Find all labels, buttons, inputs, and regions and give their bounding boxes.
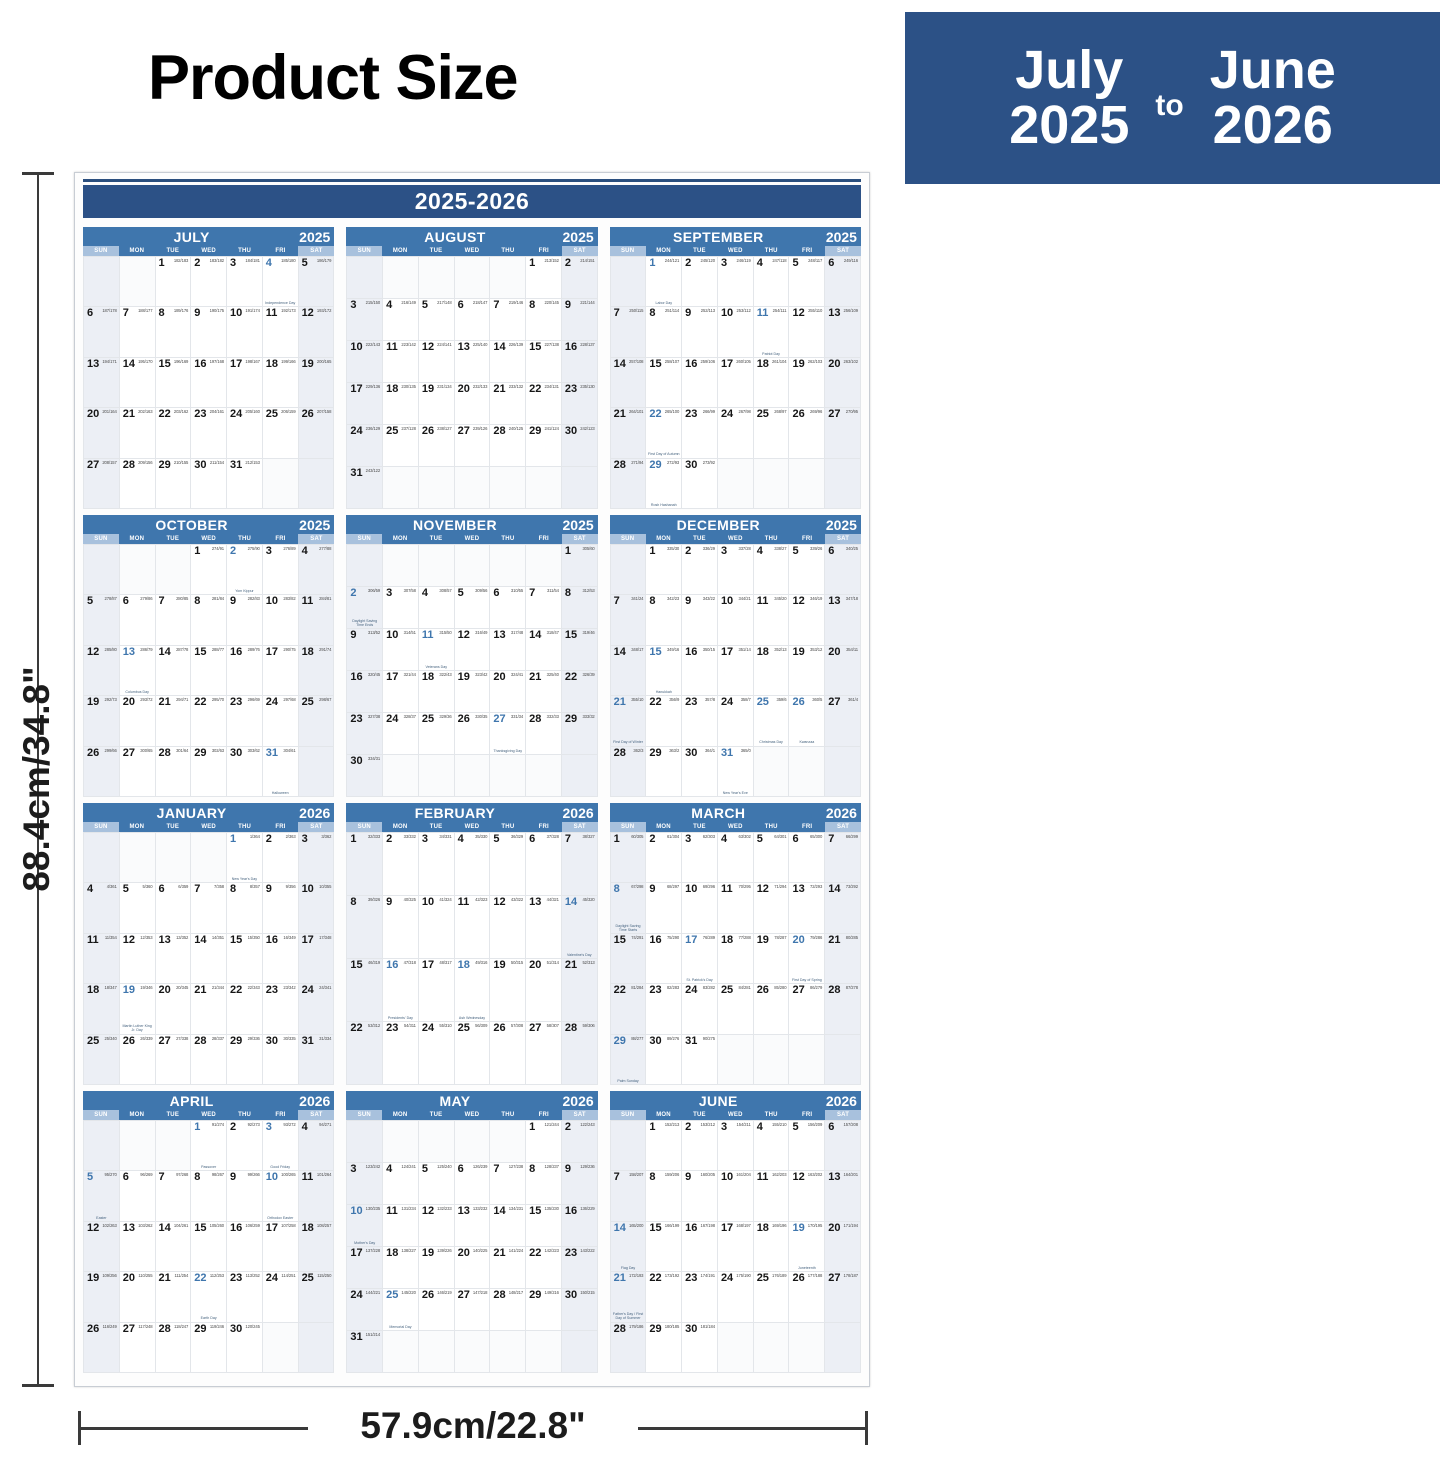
day-of-year-counter: 252/113: [701, 309, 715, 313]
day-number: 19: [87, 1273, 99, 1284]
day-number: 1: [194, 546, 200, 557]
day-of-year-counter: 8/357: [250, 885, 260, 889]
day-cell: 10100/265Orthodox Easter: [263, 1171, 299, 1221]
day-of-year-counter: 43/322: [511, 898, 523, 902]
day-number: 26: [87, 748, 99, 759]
day-of-year-counter: 29/336: [248, 1037, 260, 1041]
day-of-year-counter: 129/236: [580, 1165, 594, 1169]
day-number: 12: [458, 630, 470, 641]
day-cell: 23357/8: [682, 696, 718, 746]
day-number: 24: [350, 1290, 362, 1301]
holiday-label: Easter: [85, 1216, 118, 1220]
day-cell: 2306/59Daylight Saving Time Ends: [347, 587, 383, 629]
day-cell: 8281/84: [191, 595, 227, 645]
day-number: 31: [302, 1036, 314, 1047]
day-number: 29: [649, 748, 661, 759]
day-number: 31: [350, 1332, 362, 1343]
date-range-from: July 2025: [1009, 43, 1129, 153]
day-cell: 9221/144: [562, 299, 598, 341]
day-number: 10: [350, 1206, 362, 1217]
day-of-year-counter: 164/201: [844, 1173, 858, 1177]
day-cell: 2556/309: [455, 1022, 491, 1085]
day-of-year-counter: 235/130: [580, 385, 594, 389]
day-number: 5: [302, 258, 308, 269]
weekday-header-wed: WED: [191, 822, 227, 832]
month-name: APRIL: [83, 1093, 334, 1109]
day-cell-empty: [299, 1323, 335, 1373]
day-of-year-counter: 351/14: [738, 648, 750, 652]
weekday-header-fri: FRI: [526, 534, 562, 544]
day-number: 22: [565, 672, 577, 683]
weekday-header-thu: THU: [753, 534, 789, 544]
day-number: 1: [159, 258, 165, 269]
day-of-year-counter: 349/16: [667, 648, 679, 652]
day-number: 10: [685, 884, 697, 895]
poster-top-rule: [83, 179, 861, 182]
day-of-year-counter: 61/304: [667, 835, 679, 839]
day-number: 27: [458, 1290, 470, 1301]
feature-callouts-panel: July 2025 to June 2026 FRI 181 4 185/180…: [900, 0, 1445, 1461]
day-cell: 11223/142: [383, 341, 419, 383]
day-of-year-counter: 240/125: [509, 427, 523, 431]
day-number: 20: [529, 960, 541, 971]
day-of-year-counter: 329/36: [439, 715, 451, 719]
weekday-header-tue: TUE: [418, 822, 454, 832]
day-number: 23: [685, 697, 697, 708]
day-number: 1: [649, 1122, 655, 1133]
day-cell: 2152/313: [562, 959, 598, 1022]
day-cell: 6126/239: [455, 1163, 491, 1205]
day-cell: 22173/192: [646, 1272, 682, 1322]
holiday-label: Yom Kippur: [228, 589, 261, 593]
day-cell: 7158/207: [611, 1171, 647, 1221]
day-cell: 2253/312: [347, 1022, 383, 1085]
day-cell: 9190/175: [191, 307, 227, 357]
day-of-year-counter: 171/194: [844, 1224, 858, 1228]
day-of-year-counter: 191/174: [245, 309, 259, 313]
day-cell: 8128/237: [526, 1163, 562, 1205]
day-number: 12: [87, 647, 99, 658]
day-number: 1: [194, 1122, 200, 1133]
month-name: AUGUST: [346, 229, 597, 245]
day-of-year-counter: 48/317: [439, 961, 451, 965]
day-cell: 26269/96: [789, 408, 825, 458]
day-cell: 7250/115: [611, 307, 647, 357]
day-cell-empty: [825, 747, 861, 797]
day-number: 31: [350, 468, 362, 479]
day-cell: 2525/340: [84, 1035, 120, 1085]
month-name: FEBRUARY: [346, 805, 597, 821]
day-number: 17: [386, 672, 398, 683]
day-cell: 2859/306: [562, 1022, 598, 1085]
day-cell: 1515/350: [227, 934, 263, 984]
day-of-year-counter: 360/5: [812, 698, 822, 702]
day-of-year-counter: 263/102: [844, 360, 858, 364]
day-cell: 334/331: [419, 833, 455, 896]
day-number: 30: [685, 460, 697, 471]
weekday-header-mon: MON: [382, 534, 418, 544]
day-number: 1: [614, 834, 620, 845]
day-cell: 77/358: [191, 883, 227, 933]
weekday-header-sun: SUN: [346, 822, 382, 832]
day-number: 15: [159, 359, 171, 370]
day-number: 17: [230, 359, 242, 370]
day-number: 17: [422, 960, 434, 971]
day-of-year-counter: 346/19: [810, 597, 822, 601]
day-of-year-counter: 355/10: [631, 698, 643, 702]
day-of-year-counter: 211/154: [210, 461, 224, 465]
day-number: 19: [493, 960, 505, 971]
day-of-year-counter: 156/209: [808, 1123, 822, 1127]
day-of-year-counter: 246/119: [737, 259, 751, 263]
day-number: 13: [828, 596, 840, 607]
weekday-header-sat: SAT: [825, 822, 861, 832]
weekday-header-wed: WED: [717, 246, 753, 256]
day-cell-empty: [526, 755, 562, 797]
day-number: 9: [386, 897, 392, 908]
day-cell-empty: [789, 1323, 825, 1373]
day-number: 18: [302, 647, 314, 658]
months-grid: JULY2025SUNMONTUEWEDTHUFRISAT1182/183218…: [83, 227, 861, 1373]
day-cell: 21355/10First Day of Winter: [611, 696, 647, 746]
day-number: 6: [123, 1172, 129, 1183]
day-cell: 665/300: [789, 833, 825, 883]
day-number: 17: [266, 647, 278, 658]
day-of-year-counter: 249/116: [844, 259, 858, 263]
day-of-year-counter: 130/235: [366, 1207, 380, 1211]
day-cell: 14134/231: [490, 1205, 526, 1247]
day-number: 29: [194, 748, 206, 759]
day-of-year-counter: 81/284: [631, 986, 643, 990]
day-of-year-counter: 35/330: [475, 835, 487, 839]
day-of-year-counter: 38/327: [582, 835, 594, 839]
day-number: 19: [302, 359, 314, 370]
day-of-year-counter: 296/69: [248, 698, 260, 702]
weekday-header-sun: SUN: [610, 534, 646, 544]
day-number: 9: [685, 308, 691, 319]
day-number: 17: [721, 1223, 733, 1234]
day-cell: 12163/202: [789, 1171, 825, 1221]
day-of-year-counter: 40/325: [404, 898, 416, 902]
holiday-label: Good Friday: [264, 1165, 297, 1169]
day-cell: 16167/198: [682, 1222, 718, 1272]
day-cell-empty: [347, 257, 383, 299]
day-of-year-counter: 317/48: [511, 631, 523, 635]
day-cell-empty: [754, 747, 790, 797]
day-number: 15: [194, 647, 206, 658]
day-cell: 8312/53: [562, 587, 598, 629]
day-cell: 19139/226: [419, 1247, 455, 1289]
day-cell: 29241/124: [526, 425, 562, 467]
day-cell: 2483/282: [682, 984, 718, 1034]
day-number: 30: [649, 1036, 661, 1047]
day-of-year-counter: 178/187: [844, 1274, 858, 1278]
day-number: 28: [614, 460, 626, 471]
day-of-year-counter: 207/158: [317, 410, 331, 414]
day-cell-empty: [191, 833, 227, 883]
day-of-year-counter: 244/121: [665, 259, 679, 263]
day-of-year-counter: 299/66: [105, 749, 117, 753]
day-of-year-counter: 117/248: [138, 1325, 152, 1329]
weekday-header-sat: SAT: [562, 822, 598, 832]
day-cell: 21202/163: [120, 408, 156, 458]
day-cell: 26207/158: [299, 408, 335, 458]
day-number: 16: [194, 359, 206, 370]
day-of-year-counter: 147/218: [473, 1291, 487, 1295]
day-cell: 17168/197: [718, 1222, 754, 1272]
day-of-year-counter: 236/129: [366, 427, 380, 431]
day-of-year-counter: 68/297: [667, 885, 679, 889]
month-year: 2025: [299, 229, 330, 245]
day-number: 30: [565, 426, 577, 437]
day-cells-grid: 132/333233/332334/331435/330536/329637/3…: [346, 832, 597, 1085]
day-cell: 27147/218: [455, 1289, 491, 1331]
day-number: 5: [87, 596, 93, 607]
month-block: JUNE2026SUNMONTUEWEDTHUFRISAT1152/213215…: [610, 1091, 861, 1373]
day-of-year-counter: 205/160: [245, 410, 259, 414]
day-of-year-counter: 332/33: [547, 715, 559, 719]
day-number: 12: [422, 1206, 434, 1217]
day-cell: 99/356: [263, 883, 299, 933]
day-cell-empty: [789, 747, 825, 797]
day-number: 6: [159, 884, 165, 895]
weekday-header-mon: MON: [382, 246, 418, 256]
day-cell: 21172/193Father's Day / First Day of Sum…: [611, 1272, 647, 1322]
day-number: 18: [386, 1248, 398, 1259]
day-of-year-counter: 173/192: [665, 1274, 679, 1278]
weekday-header-sat: SAT: [298, 1110, 334, 1120]
day-cell: 27178/187: [825, 1272, 861, 1322]
day-cell-empty: [120, 1121, 156, 1171]
day-cell: 11131/234: [383, 1205, 419, 1247]
day-of-year-counter: 215/150: [366, 301, 380, 305]
weekday-header-wed: WED: [717, 534, 753, 544]
day-cell-empty: [455, 1331, 491, 1373]
day-cell: 21233/132: [490, 383, 526, 425]
day-of-year-counter: 196/169: [174, 360, 188, 364]
day-of-year-counter: 290/75: [283, 648, 295, 652]
day-of-year-counter: 63/302: [738, 835, 750, 839]
day-number: 6: [123, 596, 129, 607]
day-of-year-counter: 155/210: [772, 1123, 786, 1127]
day-cell-empty: [419, 1331, 455, 1373]
holiday-label: Passover: [192, 1165, 225, 1169]
day-number: 29: [529, 1290, 541, 1301]
day-cell: 14104/261: [156, 1222, 192, 1272]
weekday-header-thu: THU: [227, 1110, 263, 1120]
day-number: 27: [87, 460, 99, 471]
day-cell: 18230/135: [383, 383, 419, 425]
day-number: 8: [529, 1164, 535, 1175]
weekday-header-sun: SUN: [346, 534, 382, 544]
day-cell-empty: [825, 1323, 861, 1373]
weekday-header-tue: TUE: [155, 1110, 191, 1120]
holiday-label: Rosh Hashanah: [647, 503, 680, 507]
day-number: 24: [721, 1273, 733, 1284]
day-cell: 18108/257: [299, 1222, 335, 1272]
day-cell-empty: [526, 1331, 562, 1373]
weekday-header-wed: WED: [191, 534, 227, 544]
day-number: 4: [721, 834, 727, 845]
day-cell-empty: [419, 545, 455, 587]
day-of-year-counter: 222/143: [366, 343, 380, 347]
weekday-header-fri: FRI: [789, 1110, 825, 1120]
day-of-year-counter: 131/234: [401, 1207, 415, 1211]
day-of-year-counter: 15/350: [248, 936, 260, 940]
day-cell: 29149/216: [526, 1289, 562, 1331]
day-number: 6: [87, 308, 93, 319]
day-of-year-counter: 113/252: [246, 1274, 260, 1278]
calendar-poster: 2025-2026 JULY2025SUNMONTUEWEDTHUFRISAT1…: [74, 172, 870, 1387]
day-of-year-counter: 318/47: [547, 631, 559, 635]
day-of-year-counter: 265/100: [665, 410, 679, 414]
day-of-year-counter: 316/49: [475, 631, 487, 635]
day-number: 10: [386, 630, 398, 641]
day-of-year-counter: 272/93: [667, 461, 679, 465]
day-of-year-counter: 69/296: [703, 885, 715, 889]
weekday-header-mon: MON: [646, 246, 682, 256]
day-number: 14: [123, 359, 135, 370]
day-number: 13: [792, 884, 804, 895]
day-number: 15: [565, 630, 577, 641]
day-number: 13: [828, 308, 840, 319]
day-of-year-counter: 320/45: [368, 673, 380, 677]
day-of-year-counter: 70/295: [738, 885, 750, 889]
day-cell: 26116/249: [84, 1323, 120, 1373]
day-number: 4: [386, 1164, 392, 1175]
day-cell: 2382/283: [646, 984, 682, 1034]
day-of-year-counter: 264/101: [629, 410, 643, 414]
day-cell: 17321/44: [383, 671, 419, 713]
day-of-year-counter: 112/253: [210, 1274, 224, 1278]
day-cell: 292/273: [227, 1121, 263, 1171]
day-cell-empty: [84, 1121, 120, 1171]
day-of-year-counter: 322/43: [439, 673, 451, 677]
day-cell: 31243/122: [347, 467, 383, 509]
day-cell: 29302/63: [191, 747, 227, 797]
day-of-year-counter: 126/239: [473, 1165, 487, 1169]
weekday-header-mon: MON: [119, 246, 155, 256]
holiday-label: Hanukkah: [647, 690, 680, 694]
day-number: 2: [350, 588, 356, 599]
weekday-header-row: SUNMONTUEWEDTHUFRISAT: [346, 534, 597, 544]
day-cell: 26360/5Kwanzaa: [789, 696, 825, 746]
day-of-year-counter: 297/68: [283, 698, 295, 702]
day-number: 14: [614, 359, 626, 370]
day-number: 25: [422, 714, 434, 725]
day-number: 27: [828, 1273, 840, 1284]
day-cells-grid: 191/274Passover292/273393/272Good Friday…: [83, 1120, 334, 1373]
day-cell: 7280/85: [156, 595, 192, 645]
day-cell: 24236/129: [347, 425, 383, 467]
holiday-label: First Day of Autumn: [647, 452, 680, 456]
day-cell-empty: [419, 755, 455, 797]
day-cell: 24144/221: [347, 1289, 383, 1331]
day-of-year-counter: 363/2: [669, 749, 679, 753]
day-number: 16: [685, 1223, 697, 1234]
day-number: 31: [685, 1036, 697, 1047]
day-of-year-counter: 59/306: [582, 1024, 594, 1028]
day-cell: 13225/140: [455, 341, 491, 383]
day-of-year-counter: 187/178: [102, 309, 116, 313]
day-number: 11: [302, 596, 314, 607]
day-number: 2: [685, 546, 691, 557]
day-cell: 17260/105: [718, 358, 754, 408]
weekday-header-fri: FRI: [263, 1110, 299, 1120]
day-of-year-counter: 107/258: [281, 1224, 295, 1228]
day-of-year-counter: 84/281: [738, 986, 750, 990]
day-number: 19: [87, 697, 99, 708]
day-cell-empty: [490, 467, 526, 509]
day-number: 13: [159, 935, 171, 946]
day-cell: 20171/194: [825, 1222, 861, 1272]
day-of-year-counter: 330/35: [475, 715, 487, 719]
day-cell: 2626/339: [120, 1035, 156, 1085]
day-number: 23: [230, 1273, 242, 1284]
day-of-year-counter: 198/167: [245, 360, 259, 364]
day-of-year-counter: 172/193: [629, 1274, 643, 1278]
day-number: 30: [565, 1290, 577, 1301]
day-number: 4: [458, 834, 464, 845]
day-number: 1: [529, 258, 535, 269]
month-block: DECEMBER2025SUNMONTUEWEDTHUFRISAT1335/30…: [610, 515, 861, 797]
day-cell: 10314/51: [383, 629, 419, 671]
day-of-year-counter: 319/46: [582, 631, 594, 635]
weekday-header-mon: MON: [382, 822, 418, 832]
day-of-year-counter: 218/147: [473, 301, 487, 305]
day-cell-empty: [263, 459, 299, 509]
month-header: NOVEMBER2025: [346, 515, 597, 534]
day-number: 8: [159, 308, 165, 319]
weekday-header-thu: THU: [227, 246, 263, 256]
day-cell: 3131/334: [299, 1035, 335, 1085]
day-number: 13: [87, 359, 99, 370]
day-cell-empty: [383, 755, 419, 797]
day-cell: 261/304: [646, 833, 682, 883]
date-range-to: June 2026: [1210, 43, 1336, 153]
day-cell-empty: [611, 545, 647, 595]
day-of-year-counter: 253/112: [737, 309, 751, 313]
day-number: 20: [87, 409, 99, 420]
day-cell: 31212/153: [227, 459, 263, 509]
day-cell: 23296/69: [227, 696, 263, 746]
weekday-header-row: SUNMONTUEWEDTHUFRISAT: [346, 1110, 597, 1120]
month-year: 2025: [299, 517, 330, 533]
day-number: 6: [792, 834, 798, 845]
day-of-year-counter: 102/263: [102, 1224, 116, 1228]
day-number: 13: [458, 1206, 470, 1217]
weekday-header-tue: TUE: [155, 822, 191, 832]
day-cell: 1647/318Presidents' Day: [383, 959, 419, 1022]
day-number: 8: [350, 897, 356, 908]
day-number: 15: [529, 342, 541, 353]
day-cell: 1877/288: [718, 934, 754, 984]
day-cell: 1344/321: [526, 896, 562, 959]
weekday-header-fri: FRI: [789, 246, 825, 256]
day-of-year-counter: 276/89: [283, 547, 295, 551]
day-of-year-counter: 295/70: [212, 698, 224, 702]
day-number: 28: [123, 460, 135, 471]
day-cell: 18138/227: [383, 1247, 419, 1289]
day-of-year-counter: 281/84: [212, 597, 224, 601]
weekday-header-wed: WED: [454, 246, 490, 256]
height-dimension-label: 88.4cm/34.8": [16, 399, 58, 1159]
day-of-year-counter: 41/324: [439, 898, 451, 902]
day-number: 16: [685, 359, 697, 370]
day-number: 28: [159, 748, 171, 759]
day-number: 11: [458, 897, 470, 908]
weekday-header-tue: TUE: [418, 1110, 454, 1120]
